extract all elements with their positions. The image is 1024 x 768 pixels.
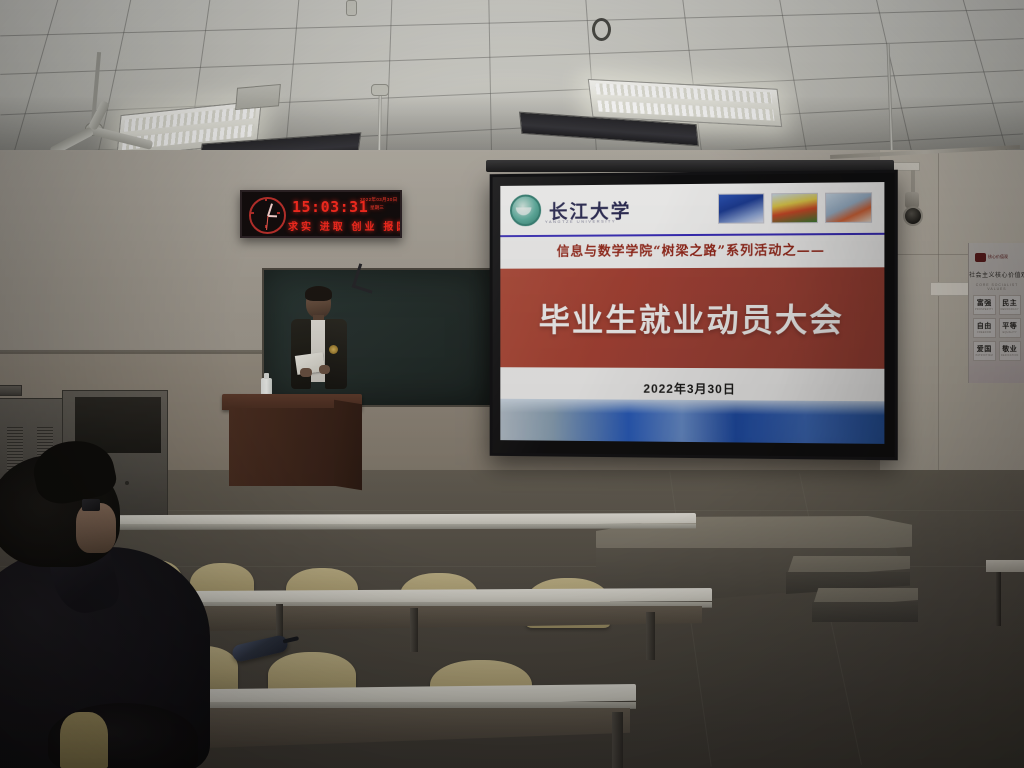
analog-clock-icon: [249, 197, 286, 234]
poster-value-zh: 爱国: [974, 344, 995, 354]
campus-garden-photo: [771, 193, 818, 224]
led-motto-display: 求实 进取 创业 报国: [288, 218, 402, 233]
led-weekday-display: 星期三: [370, 205, 384, 211]
university-logo-icon: [510, 194, 541, 226]
foreground-chair-back: [60, 712, 108, 768]
campus-building-photo: [825, 192, 872, 223]
slide-footer-panorama: [500, 399, 884, 444]
presenter-jacket-right: [325, 319, 347, 389]
poster-value-en: DEDICATION: [1000, 354, 1021, 357]
desk-leg: [410, 608, 418, 652]
classroom-photo-scene: 长江大学 YANGTZE UNIVERSITY 信息与数学学院“树梁之路”系列活…: [0, 0, 1024, 768]
poster-value-en: EQUALITY: [1000, 331, 1021, 334]
presenter-hand-right: [319, 365, 330, 374]
projection-screen[interactable]: 长江大学 YANGTZE UNIVERSITY 信息与数学学院“树梁之路”系列活…: [490, 170, 898, 461]
poster-value-en: DEMOCRACY: [1000, 308, 1021, 311]
poster-value-zh: 自由: [974, 321, 995, 331]
presenter: [288, 288, 350, 400]
led-time-display: 15:03:31: [292, 198, 368, 216]
slide-header-photos: [718, 192, 872, 224]
poster-value-cell: 民主 DEMOCRACY: [999, 295, 1022, 315]
stage-step-lower-face: [812, 602, 918, 622]
poster-subheading: CORE SOCIALIST VALUES: [969, 283, 1024, 291]
poster-value-en: PATRIOTISM: [974, 354, 995, 357]
led-clock-board: 15:03:31 2022年03月30日 星期三 求实 进取 创业 报国: [240, 190, 402, 238]
poster-value-zh: 平等: [1000, 321, 1021, 331]
slide-date: 2022年3月30日: [500, 379, 884, 398]
slide-title: 毕业生就业动员大会: [500, 267, 884, 369]
ceiling-hook-icon: [592, 18, 611, 41]
poster-value-zh: 民主: [1000, 298, 1021, 308]
poster-heading: 社会主义核心价值观: [969, 270, 1024, 279]
poster-value-cell: 平等 EQUALITY: [999, 318, 1022, 338]
ceiling-air-vent: [235, 84, 281, 110]
presentation-slide: 长江大学 YANGTZE UNIVERSITY 信息与数学学院“树梁之路”系列活…: [500, 182, 884, 444]
podium-side-panel: [334, 400, 362, 490]
side-desk-corner: [986, 560, 1024, 572]
side-desk-leg: [996, 572, 1001, 626]
poster-value-en: FREEDOM: [974, 331, 995, 334]
ceiling-sensor: [371, 84, 389, 96]
core-values-poster: 核心价值观 社会主义核心价值观 CORE SOCIALIST VALUES 富强…: [968, 243, 1024, 383]
desk-leg: [646, 612, 655, 660]
poster-value-cell: 敬业 DEDICATION: [999, 341, 1022, 361]
presenter-jacket-emblem-icon: [329, 345, 338, 354]
slide-subtitle: 信息与数学学院“树梁之路”系列活动之——: [500, 239, 884, 260]
poster-value-zh: 敬业: [1000, 344, 1021, 354]
poster-badge-text: 核心价值观: [988, 254, 1008, 260]
security-camera-icon: [903, 206, 923, 226]
led-date-display: 2022年03月30日: [360, 197, 398, 203]
slide-title-band: 毕业生就业动员大会: [500, 267, 884, 369]
university-name-en: YANGTZE UNIVERSITY: [545, 219, 616, 224]
phone-icon: [82, 499, 100, 511]
poster-values-grid: 富强 PROSPERITY 民主 DEMOCRACY 自由 FREEDOM 平等…: [973, 295, 1021, 361]
poster-value-cell: 富强 PROSPERITY: [973, 295, 996, 315]
slide-header: 长江大学: [500, 182, 884, 235]
desk-leg: [612, 712, 623, 768]
poster-value-cell: 爱国 PATRIOTISM: [973, 341, 996, 361]
foreground-attendee: [0, 455, 220, 768]
sprinkler-head-icon: [346, 0, 357, 16]
campus-sculpture-photo: [718, 193, 764, 223]
poster-value-cell: 自由 FREEDOM: [973, 318, 996, 338]
poster-badge-icon: [975, 253, 986, 262]
poster-value-zh: 富强: [974, 298, 995, 308]
presenter-hand-left: [300, 368, 312, 377]
poster-value-en: PROSPERITY: [974, 308, 995, 311]
equipment-cabinet-top-box: [0, 385, 22, 396]
clock-second-hand: [266, 215, 268, 229]
presenter-hair: [305, 286, 332, 301]
clock-minute-hand: [267, 203, 273, 216]
